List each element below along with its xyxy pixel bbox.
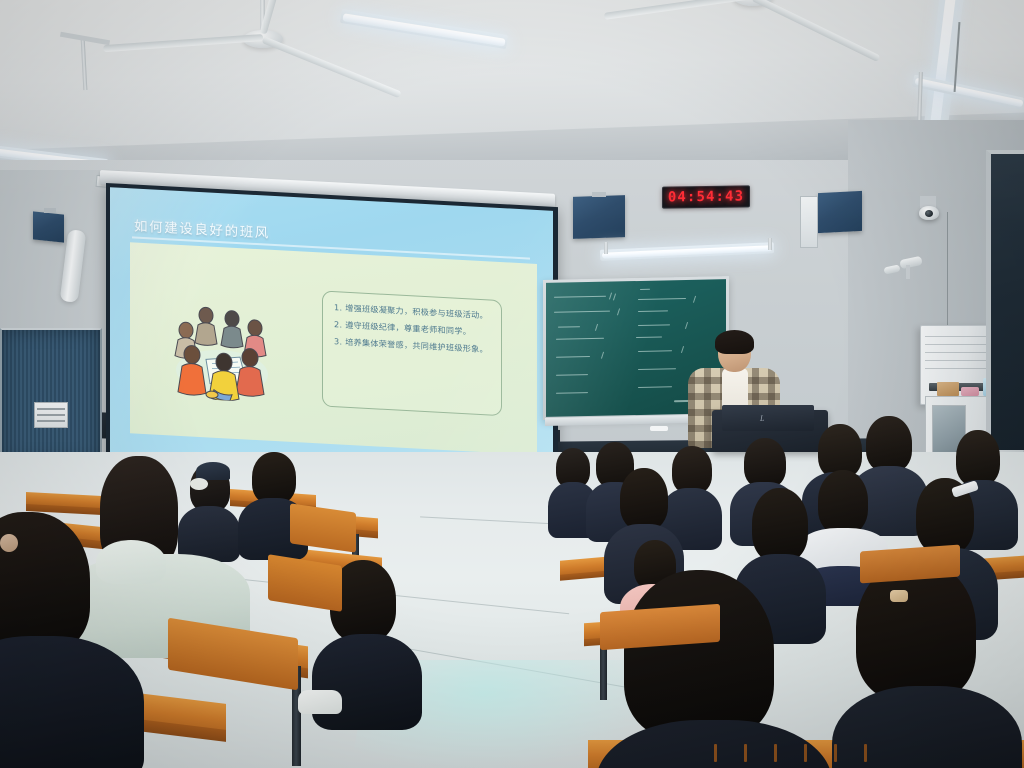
hoodie-hood [96, 540, 166, 584]
wall-speaker-center-right [818, 191, 862, 233]
laptop-logo: L [760, 414, 764, 423]
speaker-bracket [592, 192, 606, 197]
wall-notice-sign [34, 402, 68, 428]
hair-scrunchie [190, 478, 208, 490]
wall-speaker-left [33, 211, 64, 242]
classroom-scene: 如何建设良好的班风 [0, 0, 1024, 768]
camera-wire [947, 212, 948, 330]
right-window [986, 150, 1024, 450]
wall-louvre-panel [0, 328, 102, 463]
camera-lens [925, 210, 933, 217]
speaker-bracket [44, 208, 56, 213]
light-hanger [768, 238, 772, 250]
slide-surface: 如何建设良好的班风 [110, 187, 553, 494]
light-hanger [604, 242, 608, 254]
seat-slat-group [714, 744, 1014, 750]
security-camera-dome [919, 206, 939, 220]
clock-time: 04:54:43 [668, 188, 744, 205]
student-shoe [298, 690, 342, 714]
wall-speaker-center-left [573, 195, 625, 239]
presenter-laptop[interactable] [722, 405, 814, 431]
ear [0, 534, 18, 552]
students-group-discussion-illustration [166, 295, 278, 403]
digital-wall-clock: 04:54:43 [662, 185, 750, 208]
slide-bullet-list: 1. 增强班级凝聚力，积极参与班级活动。 2. 遵守班级纪律，尊重老师和同学。 … [334, 299, 496, 359]
camera-mount [906, 265, 910, 279]
speaker-amp-box [800, 196, 818, 248]
chalk-eraser[interactable] [650, 426, 668, 431]
hand [890, 590, 908, 602]
presenter-hair [715, 330, 754, 354]
